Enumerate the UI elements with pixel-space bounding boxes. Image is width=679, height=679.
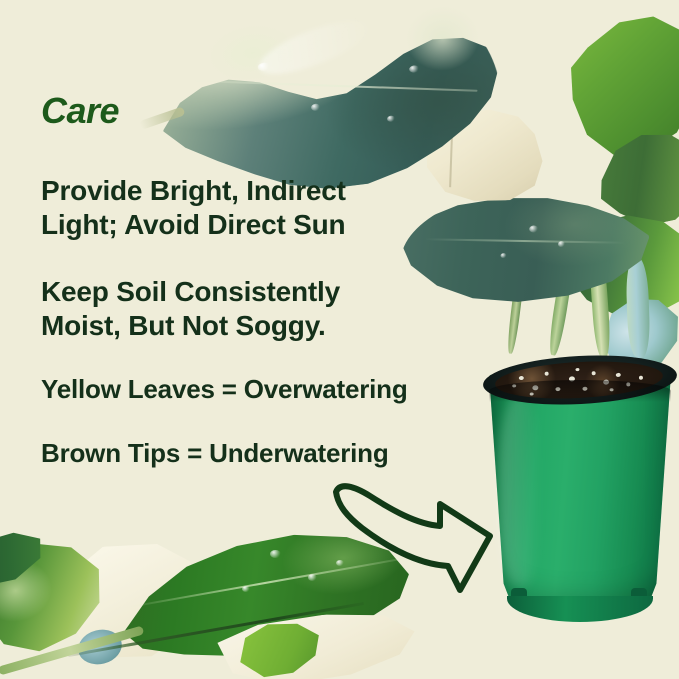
page-title: Care — [41, 93, 119, 129]
plant-care-card: Care Provide Bright, Indirect Light; Avo… — [0, 0, 679, 679]
care-text-block: Care Provide Bright, Indirect Light; Avo… — [0, 0, 679, 679]
care-tip-light: Provide Bright, Indirect Light; Avoid Di… — [41, 174, 346, 242]
care-tip-brown-tips: Brown Tips = Underwatering — [41, 438, 389, 470]
care-tip-moisture: Keep Soil Consistently Moist, But Not So… — [41, 275, 340, 343]
care-tip-yellow-leaves: Yellow Leaves = Overwatering — [41, 374, 408, 406]
